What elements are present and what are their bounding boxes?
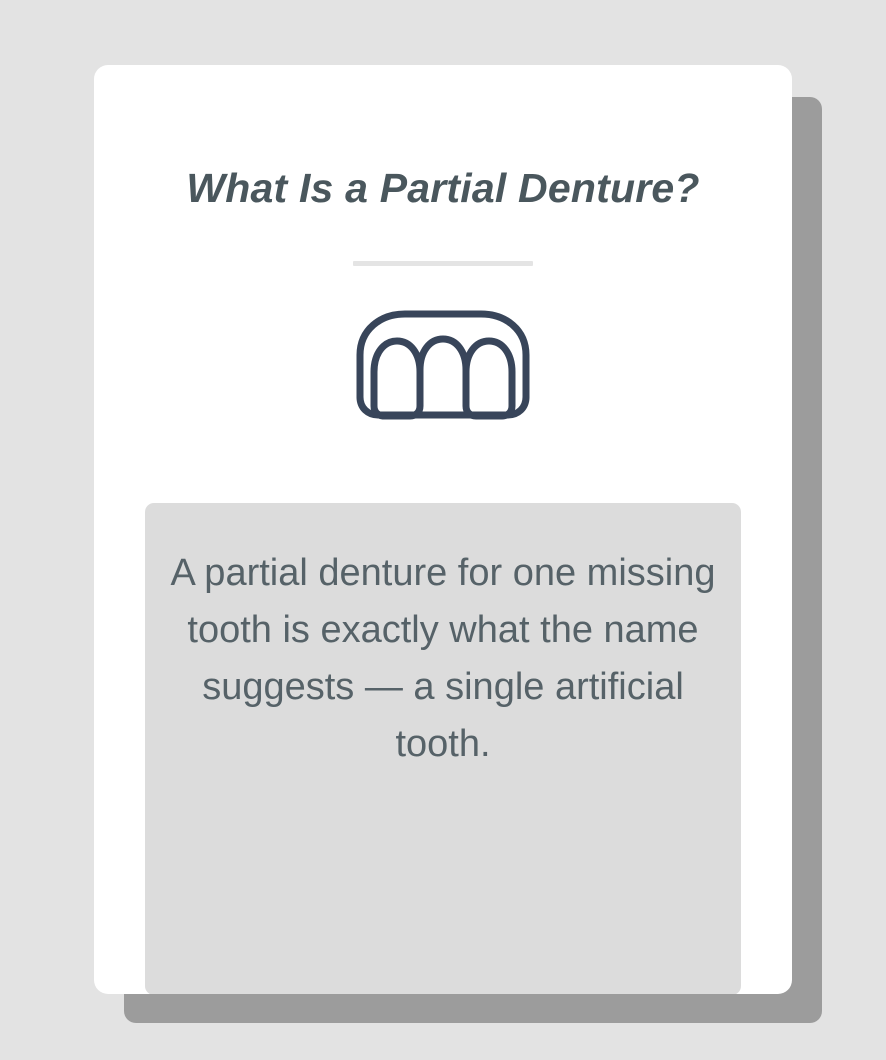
denture-icon xyxy=(349,298,537,426)
content-panel: A partial denture for one missing tooth … xyxy=(145,503,741,994)
content-card: What Is a Partial Denture? A partial den xyxy=(94,65,792,994)
body-text: A partial denture for one missing tooth … xyxy=(145,545,741,773)
slide-canvas: What Is a Partial Denture? A partial den xyxy=(0,0,886,1060)
title-divider xyxy=(353,261,533,266)
page-title: What Is a Partial Denture? xyxy=(94,165,792,212)
